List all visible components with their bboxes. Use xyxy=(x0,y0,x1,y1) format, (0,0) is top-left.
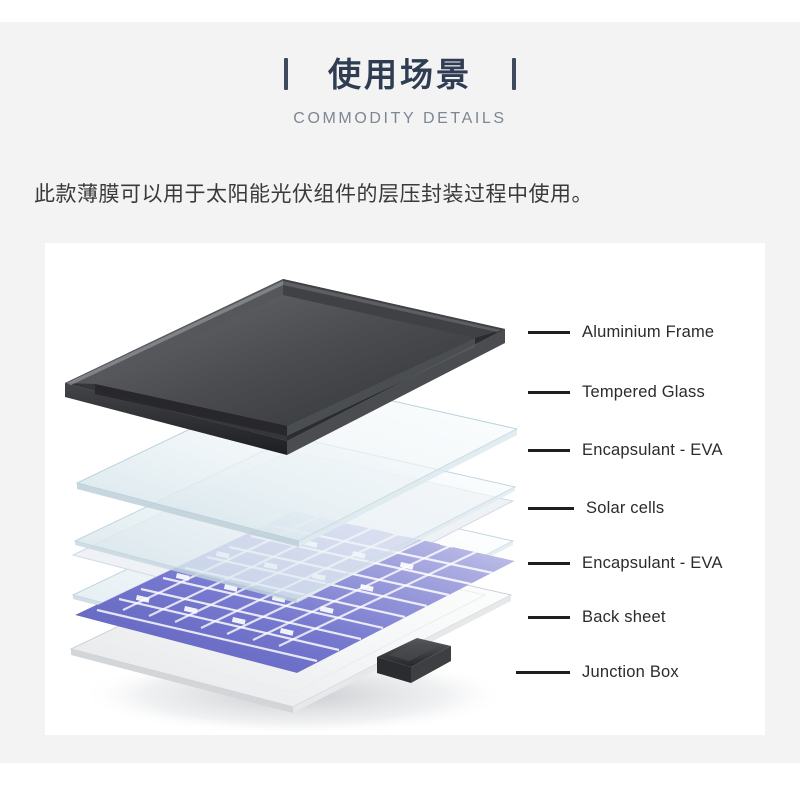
layer-solar-cells xyxy=(73,451,515,673)
layer-junction-box xyxy=(377,638,451,683)
layer-encapsulant-eva-bottom xyxy=(73,491,513,657)
layer-back-sheet xyxy=(71,545,511,713)
header: 使用场景 COMMODITY DETAILS xyxy=(0,50,800,128)
layer-encapsulant-eva-top xyxy=(75,437,515,603)
callout-aluminium-frame: Aluminium Frame xyxy=(528,321,714,343)
title-bar-left-icon xyxy=(284,58,288,90)
callout-label: Tempered Glass xyxy=(582,384,705,401)
callout-label: Back sheet xyxy=(582,609,666,626)
page-root: 使用场景 COMMODITY DETAILS 此款薄膜可以用于太阳能光伏组件的层… xyxy=(0,0,800,800)
callout-encapsulant-eva-bottom: Encapsulant - EVA xyxy=(528,552,723,574)
leader-line-icon xyxy=(516,671,570,674)
page-subtitle: COMMODITY DETAILS xyxy=(0,110,800,128)
callout-solar-cells: Solar cells xyxy=(528,497,664,519)
callout-list: Aluminium Frame Tempered Glass Encapsula… xyxy=(528,243,765,735)
description-text: 此款薄膜可以用于太阳能光伏组件的层压封装过程中使用。 xyxy=(34,180,764,209)
diagram-canvas xyxy=(45,243,555,735)
callout-tempered-glass: Tempered Glass xyxy=(528,381,705,403)
callout-label: Encapsulant - EVA xyxy=(582,555,723,572)
callout-label: Solar cells xyxy=(586,500,664,517)
callout-label: Encapsulant - EVA xyxy=(582,442,723,459)
solar-cell-grid xyxy=(75,500,515,673)
callout-label: Aluminium Frame xyxy=(582,324,714,341)
page-title: 使用场景 xyxy=(328,58,472,91)
callout-label: Junction Box xyxy=(582,664,679,681)
callout-back-sheet: Back sheet xyxy=(528,606,666,628)
leader-line-icon xyxy=(528,391,570,394)
stack-shadow xyxy=(80,655,510,735)
leader-line-icon xyxy=(528,331,570,334)
leader-line-icon xyxy=(528,449,570,452)
layer-aluminium-frame xyxy=(65,279,505,455)
solar-panel-exploded-diagram xyxy=(45,243,555,735)
callout-junction-box: Junction Box xyxy=(516,661,679,683)
figure-panel: Aluminium Frame Tempered Glass Encapsula… xyxy=(45,243,765,735)
leader-line-icon xyxy=(528,562,570,565)
callout-encapsulant-eva-top: Encapsulant - EVA xyxy=(528,439,723,461)
title-row: 使用场景 xyxy=(0,50,800,98)
layer-tempered-glass xyxy=(77,379,517,547)
title-bar-right-icon xyxy=(512,58,516,90)
leader-line-icon xyxy=(528,507,574,510)
leader-line-icon xyxy=(528,616,570,619)
